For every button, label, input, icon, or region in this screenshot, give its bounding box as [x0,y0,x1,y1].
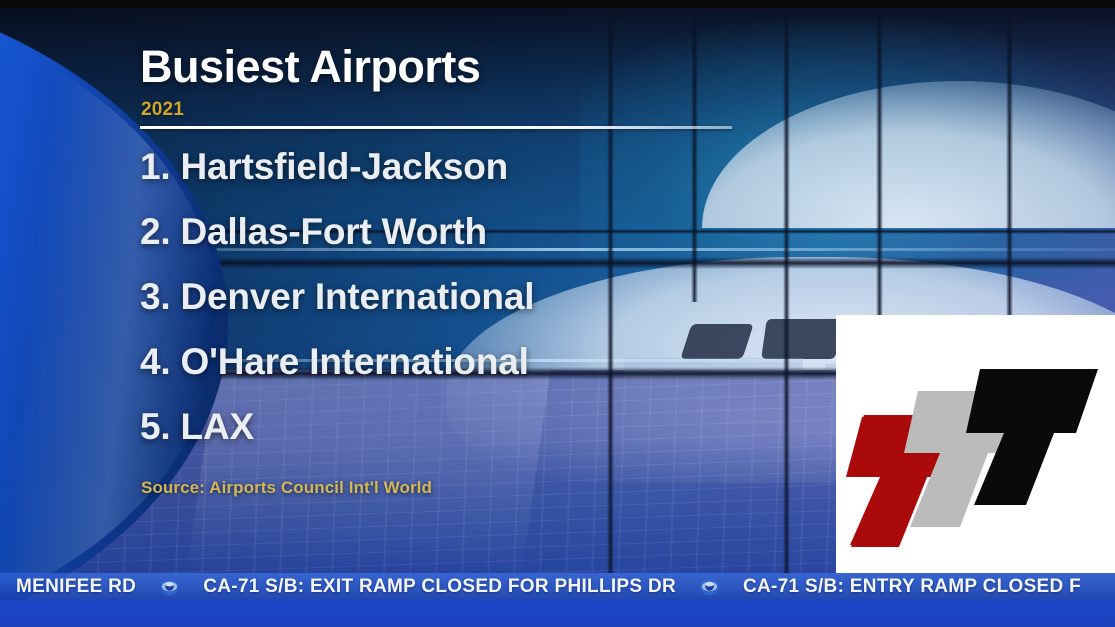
list-item: 1. Hartsfield-Jackson [140,148,534,185]
source-attribution: Source: Airports Council Int'l World [141,478,432,498]
list-item: 5. LAX [140,408,534,445]
cbs-eye-icon [700,577,719,596]
ticker-segment: MENIFEE RD [16,576,136,598]
ticker-segment: CA-71 S/B: EXIT RAMP CLOSED FOR PHILLIPS… [203,576,676,598]
station-logo-card[interactable] [836,315,1115,573]
list-item: 3. Denver International [140,278,534,315]
page-title: Busiest Airports [140,44,480,89]
list-item: 2. Dallas-Fort Worth [140,213,534,250]
ticker-segment: CA-71 S/B: ENTRY RAMP CLOSED F [743,576,1081,598]
ticker-lower-fill [0,600,1115,627]
three-t-logo-glyphs [836,315,1115,573]
news-ticker-bar: MENIFEE RD CA-71 S/B: EXIT RAMP CLOSED F… [0,573,1115,627]
cbs-eye-icon [160,577,179,596]
three-t-logo [836,315,1115,573]
list-item: 4. O'Hare International [140,343,534,380]
broadcast-graphic-frame: Busiest Airports 2021 1. Hartsfield-Jack… [0,0,1115,627]
year-label: 2021 [141,99,184,121]
ticker-content: MENIFEE RD CA-71 S/B: EXIT RAMP CLOSED F… [0,576,1081,598]
rankings-list: 1. Hartsfield-Jackson 2. Dallas-Fort Wor… [140,148,534,473]
ticker-text-strip[interactable]: MENIFEE RD CA-71 S/B: EXIT RAMP CLOSED F… [0,573,1115,600]
title-divider [140,126,732,129]
